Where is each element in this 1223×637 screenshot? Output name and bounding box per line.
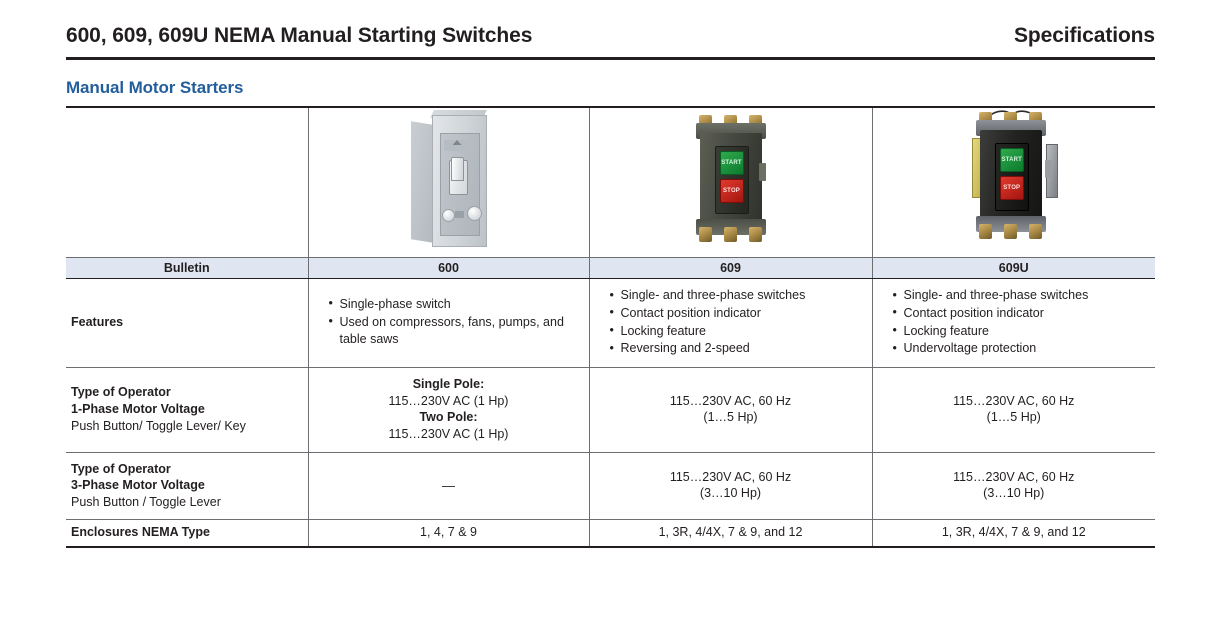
stop-button-icon: STOP [1000,176,1024,200]
list-item: Locking feature [610,323,866,341]
brand-logo-plate-icon [444,140,472,151]
table-row-operator-3-phase: Type of Operator 3-Phase Motor Voltage P… [66,452,1155,520]
row-label-text: Enclosures NEMA Type [66,524,308,541]
nameplate-slot [455,211,464,218]
cell-text: Single Pole: 115…230V AC (1 Hp) Two Pole… [309,376,589,443]
terminal-bottom-1 [699,227,712,242]
table-row-enclosures-nema-type: Enclosures NEMA Type 1, 4, 7 & 9 1, 3R, … [66,520,1155,547]
cell-features-609: Single- and three-phase switches Contact… [589,279,872,368]
row-label-line: 1-Phase Motor Voltage [71,401,308,418]
list-item: Contact position indicator [893,305,1150,323]
cell-operator-1phase-600: Single Pole: 115…230V AC (1 Hp) Two Pole… [308,368,589,453]
cell-line: (1…5 Hp) [873,409,1156,426]
row-label-text: Type of Operator 3-Phase Motor Voltage P… [66,461,308,511]
indicator-button-right [467,206,482,221]
column-header-609: 609 [589,258,872,279]
cell-operator-3phase-609: 115…230V AC, 60 Hz (3…10 Hp) [589,452,872,520]
page-title: 600, 609, 609U NEMA Manual Starting Swit… [66,24,532,48]
indicator-button-left [442,209,455,222]
row-label-line: Type of Operator [71,384,308,401]
cell-line: (1…5 Hp) [590,409,872,426]
cell-line: 115…230V AC (1 Hp) [309,393,589,410]
row-label-line: Features [71,314,308,331]
row-label-operator-3-phase: Type of Operator 3-Phase Motor Voltage P… [66,452,308,520]
list-item: Locking feature [893,323,1150,341]
cell-text: 115…230V AC, 60 Hz (1…5 Hp) [590,393,872,426]
table-row-bulletin-header: Bulletin 600 609 609U [66,258,1155,279]
terminal-bottom-3 [1029,224,1042,239]
cell-line: 115…230V AC (1 Hp) [309,426,589,443]
terminal-bottom-2 [1004,224,1017,239]
row-label-text: Type of Operator 1-Phase Motor Voltage P… [66,384,308,434]
cell-operator-3phase-609u: 115…230V AC, 60 Hz (3…10 Hp) [872,452,1155,520]
cell-600-image [308,107,589,258]
cell-text: 115…230V AC, 60 Hz (3…10 Hp) [873,469,1156,502]
cell-nema-600: 1, 4, 7 & 9 [308,520,589,547]
cell-operator-1phase-609: 115…230V AC, 60 Hz (1…5 Hp) [589,368,872,453]
cell-features-609u: Single- and three-phase switches Contact… [872,279,1155,368]
terminal-bottom-3 [749,227,762,242]
list-item: Single-phase switch [329,296,583,314]
cell-line-not-applicable: — [309,478,589,493]
cell-line: (3…10 Hp) [873,485,1156,502]
start-button-icon: START [1000,148,1024,172]
list-item: Used on compressors, fans, pumps, and ta… [329,314,583,350]
column-header-609u: 609U [872,258,1155,279]
list-item: Single- and three-phase switches [893,287,1150,305]
bulletin-600-product-photo [411,113,487,249]
table-row-operator-1-phase: Type of Operator 1-Phase Motor Voltage P… [66,368,1155,453]
stop-button-icon: STOP [720,179,744,203]
row-label-line: Type of Operator [71,461,308,478]
document-page: 600, 609, 609U NEMA Manual Starting Swit… [0,0,1223,637]
row-label-line: 3-Phase Motor Voltage [71,477,308,494]
cell-line: 115…230V AC, 60 Hz [873,393,1156,410]
list-item: Single- and three-phase switches [610,287,866,305]
cell-line: 115…230V AC, 60 Hz [590,469,872,486]
row-label-operator-1-phase: Type of Operator 1-Phase Motor Voltage P… [66,368,308,453]
table-row-product-images: START STOP [66,107,1155,258]
column-header-bulletin: Bulletin [66,258,308,279]
cell-609-image: START STOP [589,107,872,258]
toggle-lever-icon [451,157,464,181]
bulletin-609u-product-photo: START STOP [970,108,1058,254]
cell-line: 1, 4, 7 & 9 [309,524,589,541]
cell-text: 115…230V AC, 60 Hz (1…5 Hp) [873,393,1156,426]
cell-609u-image: START STOP [872,107,1155,258]
start-button-icon: START [720,151,744,175]
image-row-empty-label-cell [66,107,308,258]
row-label-features: Features [66,279,308,368]
cell-line: Single Pole: [309,376,589,393]
row-label-subtext: Push Button / Toggle Lever [71,494,308,511]
contactor-side-tab [1045,160,1052,178]
feature-list-609: Single- and three-phase switches Contact… [590,287,872,358]
cell-line: (3…10 Hp) [590,485,872,502]
cell-line: 1, 3R, 4/4X, 7 & 9, and 12 [590,524,872,541]
row-label-text: Features [66,314,308,331]
row-label-enclosures-nema-type: Enclosures NEMA Type [66,520,308,547]
table-row-features: Features Single-phase switch Used on com… [66,279,1155,368]
terminal-bottom-1 [979,224,992,239]
list-item: Reversing and 2-speed [610,340,866,358]
list-item: Undervoltage protection [893,340,1150,358]
enclosure-side-face [411,121,433,242]
cell-text: 115…230V AC, 60 Hz (3…10 Hp) [590,469,872,502]
cell-features-600: Single-phase switch Used on compressors,… [308,279,589,368]
bulletin-609-product-photo: START STOP [690,111,772,251]
list-item: Contact position indicator [610,305,866,323]
cell-line: 115…230V AC, 60 Hz [873,469,1156,486]
header-divider-rule [66,57,1155,60]
cell-line: Two Pole: [309,409,589,426]
cell-operator-1phase-609u: 115…230V AC, 60 Hz (1…5 Hp) [872,368,1155,453]
specifications-table: START STOP [66,106,1155,548]
column-header-600: 600 [308,258,589,279]
section-heading: Manual Motor Starters [66,78,243,98]
cell-line: 1, 3R, 4/4X, 7 & 9, and 12 [873,524,1156,541]
cell-line: 115…230V AC, 60 Hz [590,393,872,410]
terminal-bottom-2 [724,227,737,242]
contactor-side-tab [759,163,766,181]
page-section-title: Specifications [1014,24,1155,48]
cell-nema-609u: 1, 3R, 4/4X, 7 & 9, and 12 [872,520,1155,547]
feature-list-609u: Single- and three-phase switches Contact… [873,287,1156,358]
cell-nema-609: 1, 3R, 4/4X, 7 & 9, and 12 [589,520,872,547]
page-running-header: 600, 609, 609U NEMA Manual Starting Swit… [66,24,1155,48]
feature-list-600: Single-phase switch Used on compressors,… [309,296,589,349]
row-label-subtext: Push Button/ Toggle Lever/ Key [71,418,308,435]
cell-operator-3phase-600: — [308,452,589,520]
